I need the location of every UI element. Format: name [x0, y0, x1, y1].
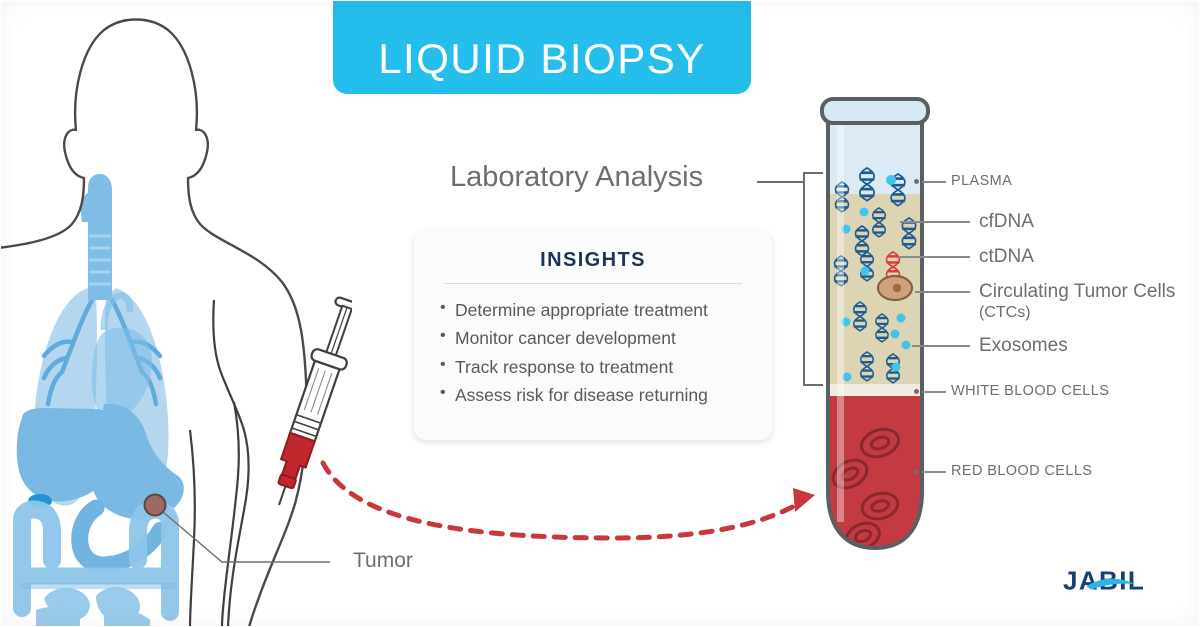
infographic-canvas: Tumor: [0, 0, 1200, 627]
blood-collection-tube: [805, 96, 955, 566]
rbc-dot-marker: [914, 469, 919, 474]
list-item: Track response to treatment: [440, 353, 746, 381]
insights-heading: INSIGHTS: [440, 249, 746, 272]
ctc-leader-line: [915, 291, 970, 293]
exosomes-leader-line: [912, 345, 970, 347]
label-cfdna: cfDNA: [979, 211, 1034, 233]
laboratory-analysis-heading: Laboratory Analysis: [450, 161, 703, 194]
label-ctdna: ctDNA: [979, 246, 1034, 268]
label-exosomes: Exosomes: [979, 335, 1068, 357]
ctdna-leader-line: [900, 256, 970, 258]
arm-contour: [190, 300, 249, 627]
insights-divider: [444, 283, 742, 284]
rbc-leader-line: [922, 471, 946, 473]
jabil-logo: JABIL: [1063, 565, 1171, 599]
laboratory-analysis-connector: [757, 181, 805, 183]
duodenum-icon: [80, 508, 112, 565]
list-item: Determine appropriate treatment: [440, 296, 746, 324]
tumor-leader-line: [163, 512, 330, 562]
list-item: Monitor cancer development: [440, 324, 746, 352]
cfdna-leader-line: [900, 221, 970, 223]
wbc-dot-marker: [914, 389, 919, 394]
tumor-label: Tumor: [353, 549, 413, 573]
wbc-leader-line: [922, 391, 946, 393]
blood-transfer-arrow: [315, 438, 825, 548]
label-ctc-sub: (CTCs): [979, 303, 1175, 323]
page-title: LIQUID BIOPSY: [378, 38, 706, 80]
label-wbc: WHITE BLOOD CELLS: [951, 383, 1109, 399]
small-intestine-icon: [20, 586, 176, 627]
insights-list: Determine appropriate treatment Monitor …: [440, 296, 746, 409]
label-ctc-main: Circulating Tumor Cells: [979, 281, 1175, 302]
organs-group: [17, 174, 184, 627]
tube-glass-highlight: [837, 122, 844, 522]
list-item: Assess risk for disease returning: [440, 381, 746, 409]
label-rbc: RED BLOOD CELLS: [951, 463, 1092, 479]
label-ctc: Circulating Tumor Cells (CTCs): [979, 281, 1175, 323]
title-banner: LIQUID BIOPSY: [333, 0, 751, 94]
syringe-needle: [279, 486, 286, 505]
ctc-icon: [878, 276, 912, 300]
plasma-leader-line: [922, 181, 946, 183]
trachea-icon: [80, 174, 112, 300]
tube-cap: [822, 99, 928, 123]
stomach-icon: [91, 404, 184, 519]
tumor-marker-icon: [145, 495, 166, 516]
plasma-dot-marker: [914, 179, 919, 184]
label-plasma: PLASMA: [951, 173, 1012, 189]
insights-card: INSIGHTS Determine appropriate treatment…: [414, 231, 772, 440]
